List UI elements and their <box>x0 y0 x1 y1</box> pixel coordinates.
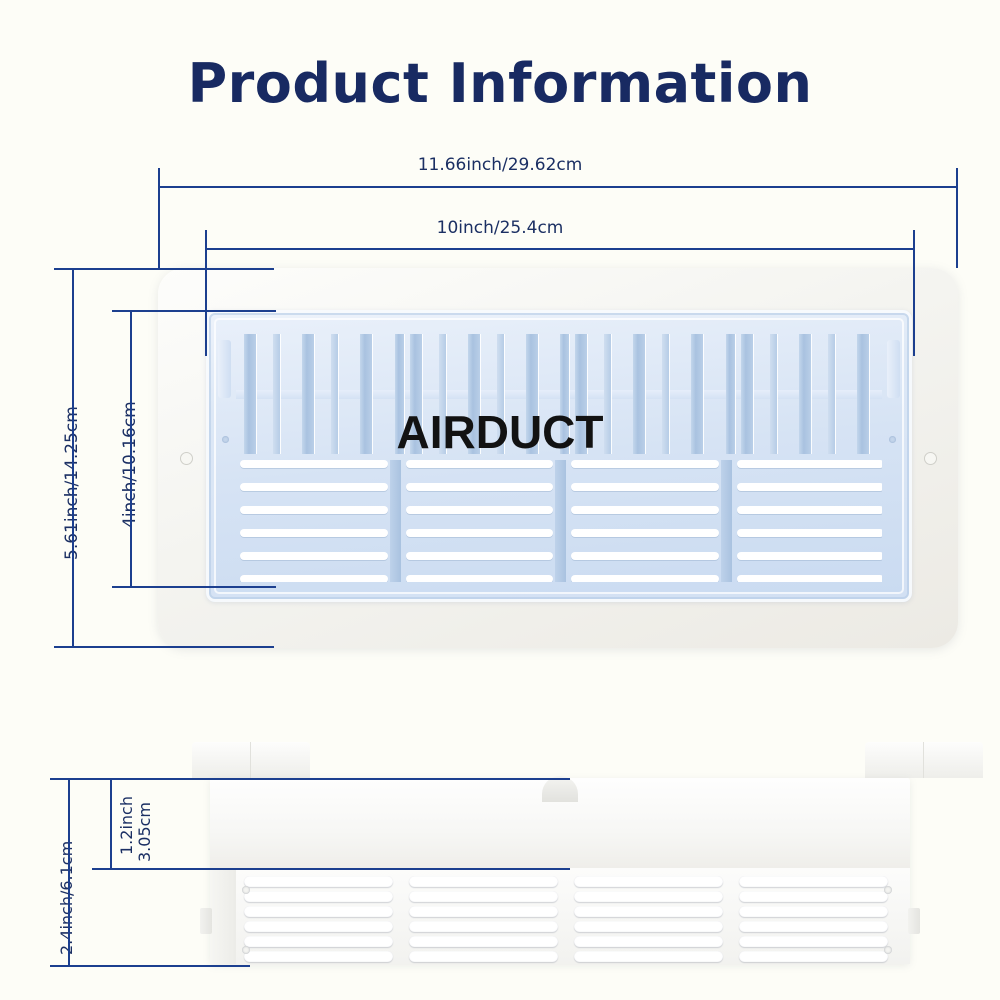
side-body-left-foot <box>210 868 236 964</box>
side-slot <box>739 891 888 902</box>
dim-line-outer-width <box>158 186 958 188</box>
louver-bar <box>497 334 504 454</box>
grille-frame-inner <box>214 318 904 594</box>
slot-divider <box>555 460 566 582</box>
louver-bar <box>770 334 777 454</box>
dim-line-flange-depth <box>110 778 112 870</box>
slot <box>571 506 719 514</box>
slot <box>240 506 388 514</box>
side-slot <box>244 921 393 932</box>
page-title: Product Information <box>0 52 1000 115</box>
louver-bar <box>828 334 835 454</box>
louver-post <box>726 334 735 454</box>
side-slot <box>409 936 558 947</box>
dim-label-outer-width: 11.66inch/29.62cm <box>0 155 1000 175</box>
dim-tick-total-depth-top <box>50 778 110 780</box>
grille-pin-right <box>889 436 896 443</box>
slot <box>737 506 883 514</box>
side-lug-left <box>192 742 310 778</box>
dim-tick-inner-height-bottom <box>112 586 276 588</box>
side-tab-right <box>908 908 920 934</box>
side-dot-right-lower <box>884 946 892 954</box>
side-body-upper <box>210 778 910 868</box>
horizontal-slot-rows <box>236 460 882 582</box>
side-slot <box>739 906 888 917</box>
grille-openings <box>236 334 882 582</box>
louver-bar <box>302 334 314 454</box>
slot <box>571 552 719 560</box>
dim-tick-inner-height-top <box>112 310 276 312</box>
side-edge-line-top <box>210 778 570 780</box>
louver-bar <box>526 334 538 454</box>
grille-tab-left <box>218 340 231 398</box>
side-slot <box>574 906 723 917</box>
louver-bar <box>273 334 280 454</box>
louver-bar <box>633 334 645 454</box>
slot <box>406 529 554 537</box>
side-edge-line-mid <box>210 868 570 870</box>
side-slot <box>739 936 888 947</box>
slot <box>406 552 554 560</box>
side-dot-left-lower <box>242 946 250 954</box>
slot <box>240 575 388 582</box>
dim-line-inner-width <box>205 248 915 250</box>
louver-bar <box>575 334 587 454</box>
side-slot <box>409 921 558 932</box>
slot <box>406 460 554 468</box>
side-slot <box>244 906 393 917</box>
screw-hole-left <box>180 452 193 465</box>
slot <box>406 575 554 582</box>
side-dot-right-upper <box>884 886 892 894</box>
slot <box>240 529 388 537</box>
product-information-diagram: Product Information AIRDUCT <box>0 0 1000 1000</box>
side-slot <box>739 921 888 932</box>
slot <box>571 483 719 491</box>
slot <box>406 483 554 491</box>
dim-tick-outer-height-bottom <box>54 646 274 648</box>
dim-tick-inner-width-right <box>913 230 915 356</box>
slot <box>240 552 388 560</box>
side-slot <box>574 891 723 902</box>
slot <box>240 460 388 468</box>
louver-bar <box>331 334 338 454</box>
vertical-louvers <box>236 334 882 454</box>
dim-line-outer-height <box>72 268 74 648</box>
side-body <box>210 778 910 964</box>
slot <box>737 483 883 491</box>
louver-bar <box>604 334 611 454</box>
side-slot <box>244 951 393 962</box>
side-slot <box>244 936 393 947</box>
side-slot <box>574 921 723 932</box>
side-view-image <box>210 742 955 964</box>
slot <box>406 506 554 514</box>
side-slot <box>244 876 393 887</box>
side-slot <box>574 951 723 962</box>
dim-line-total-depth <box>68 778 70 967</box>
louver-bar <box>857 334 869 454</box>
dim-tick-inner-width-left <box>205 230 207 356</box>
dim-label-inner-width: 10inch/25.4cm <box>0 218 1000 238</box>
slot <box>737 575 883 582</box>
slot <box>737 552 883 560</box>
louver-bar <box>439 334 446 454</box>
side-slot <box>409 876 558 887</box>
dim-label-flange-depth-cm: 3.05cm <box>136 802 154 862</box>
side-slot <box>574 936 723 947</box>
louver-bar <box>468 334 480 454</box>
louver-bar <box>741 334 753 454</box>
grille-pin-left <box>222 436 229 443</box>
side-body-lower-slots <box>210 868 910 964</box>
louver-post <box>395 334 404 454</box>
side-lug-right-seam <box>923 742 924 778</box>
front-view-image <box>158 268 958 648</box>
slot-divider <box>390 460 401 582</box>
side-tab-left <box>200 908 212 934</box>
slot <box>571 529 719 537</box>
slot <box>571 575 719 582</box>
slot <box>737 529 883 537</box>
side-lug-right <box>865 742 983 778</box>
side-dot-left-upper <box>242 886 250 894</box>
side-slot <box>739 876 888 887</box>
slot <box>737 460 883 468</box>
dim-label-total-depth: 2.4inch/6.1cm <box>58 841 76 955</box>
slot-divider <box>721 460 732 582</box>
dim-tick-outer-height-top <box>54 268 274 270</box>
louver-bar <box>244 334 256 454</box>
side-slot <box>244 891 393 902</box>
slot <box>240 483 388 491</box>
slot <box>571 460 719 468</box>
louver-bar <box>691 334 703 454</box>
side-slot <box>409 906 558 917</box>
louver-bar <box>360 334 372 454</box>
louver-bar <box>662 334 669 454</box>
grille-tab-right <box>887 340 900 398</box>
side-slot <box>409 951 558 962</box>
side-slot <box>409 891 558 902</box>
side-slot <box>739 951 888 962</box>
side-lug-left-seam <box>250 742 251 778</box>
grille-frame <box>206 310 912 602</box>
louver-bar <box>410 334 422 454</box>
side-slot <box>574 876 723 887</box>
screw-hole-right <box>924 452 937 465</box>
dim-label-flange-depth-inch: 1.2inch <box>118 796 136 855</box>
louver-bar <box>799 334 811 454</box>
dim-tick-total-depth-bottom <box>50 965 250 967</box>
dim-line-inner-height <box>130 310 132 588</box>
louver-post <box>560 334 569 454</box>
